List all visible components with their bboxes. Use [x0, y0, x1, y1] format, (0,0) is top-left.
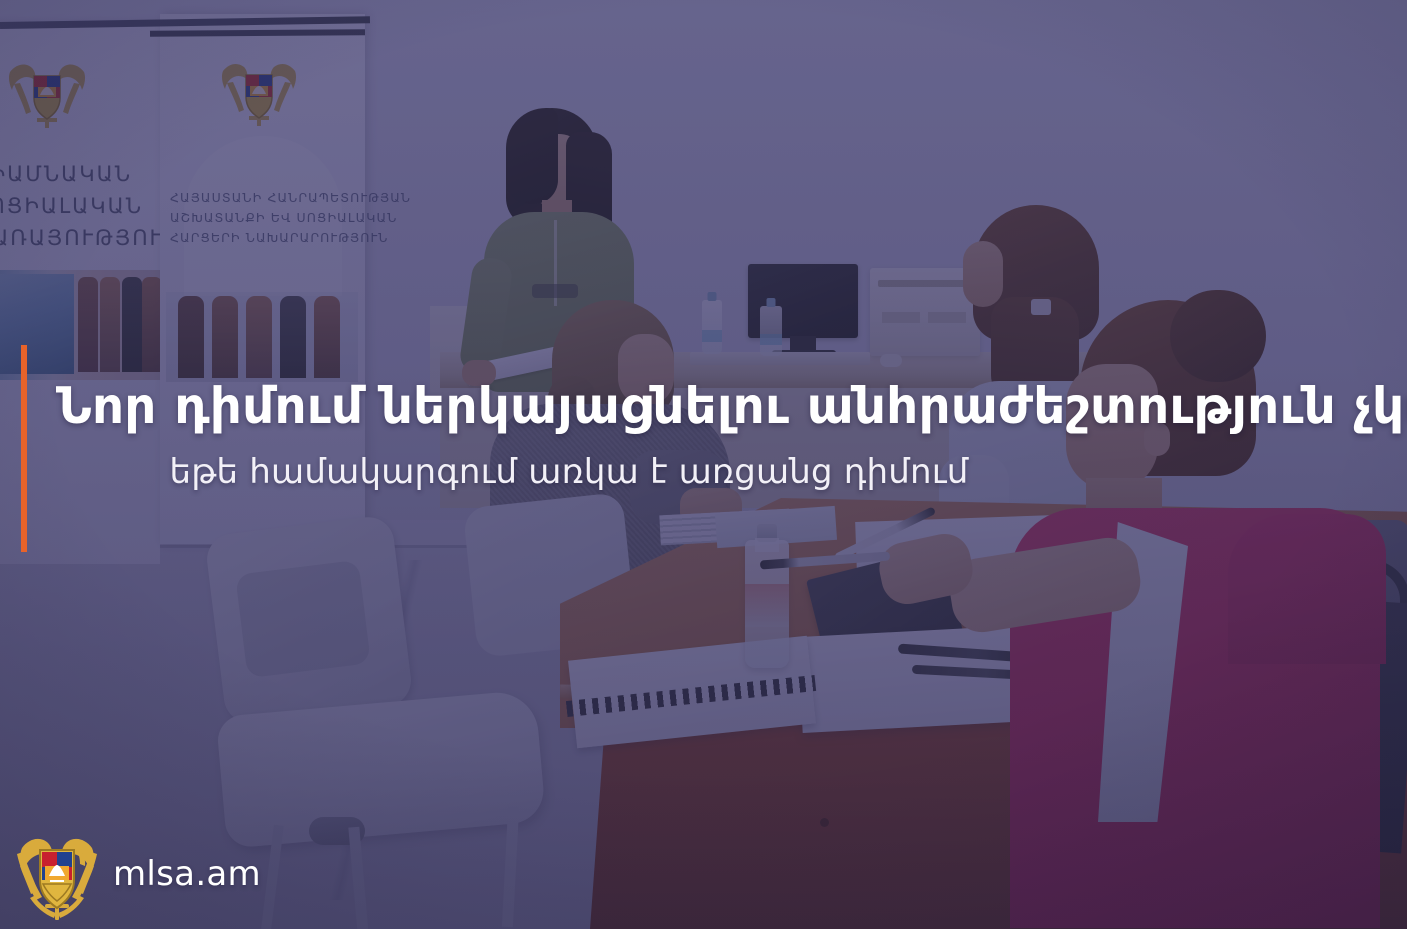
site-name: mlsa.am — [113, 854, 261, 894]
headline: Նոր դիմում ներկայացնելու անհրաժեշտությու… — [56, 380, 1386, 433]
orange-accent-bar — [21, 345, 27, 552]
site-logo[interactable]: mlsa.am — [14, 826, 261, 922]
armenia-coat-of-arms-icon — [14, 826, 100, 922]
subheadline: եթե համակարգում առկա է առցանց դիմում — [56, 452, 1082, 492]
banner-graphic: ՄԻԱՄՆԱԿԱՆ ՍՈՑԻԱԼԱԿԱՆ ԾԱՌԱՅՈՒԹՅՈՒՆ — [0, 0, 1407, 929]
